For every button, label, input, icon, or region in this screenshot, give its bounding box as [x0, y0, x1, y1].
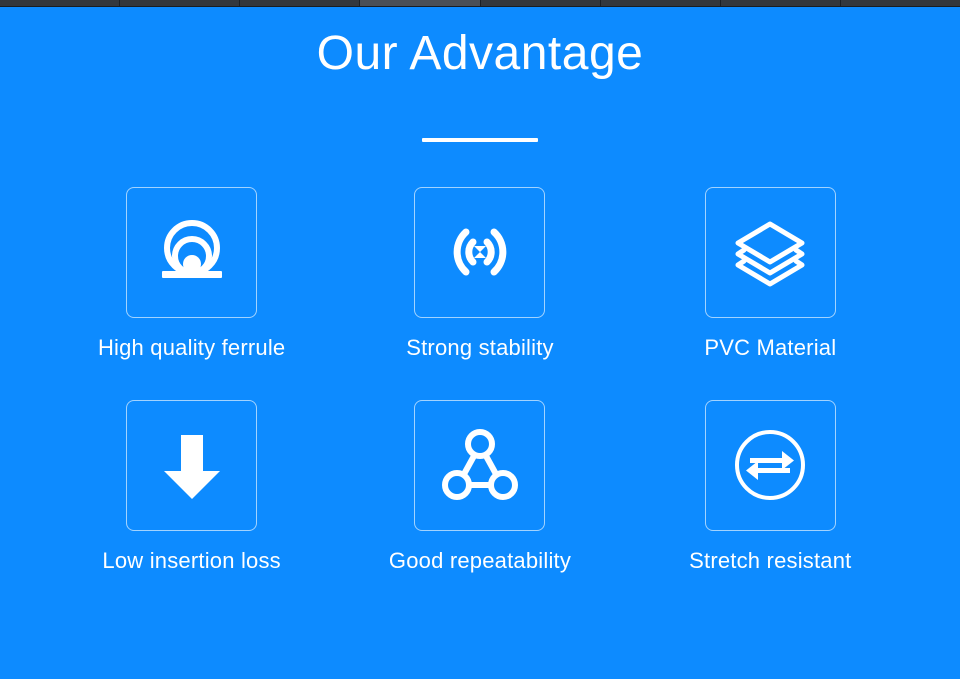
feature-label: High quality ferrule [98, 335, 285, 361]
feature-label: Low insertion loss [102, 548, 280, 574]
signal-waves-icon [442, 214, 518, 290]
feature-item-strong-stability[interactable]: Strong stability [337, 187, 622, 361]
feature-item-good-repeatability[interactable]: Good repeatability [337, 400, 622, 574]
icon-box [414, 187, 545, 318]
network-triangle-icon [442, 427, 518, 503]
feature-item-pvc-material[interactable]: PVC Material [633, 187, 908, 361]
feature-label: PVC Material [704, 335, 836, 361]
ferrule-rings-icon [154, 214, 230, 290]
page-title: Our Advantage [0, 7, 960, 81]
feature-item-stretch-resistant[interactable]: Stretch resistant [633, 400, 908, 574]
feature-label: Strong stability [406, 335, 554, 361]
icon-box [126, 187, 257, 318]
icon-box [126, 400, 257, 531]
stacked-layers-icon [732, 214, 808, 290]
feature-label: Stretch resistant [689, 548, 851, 574]
down-arrow-icon [154, 427, 230, 503]
feature-item-low-insertion-loss[interactable]: Low insertion loss [46, 400, 337, 574]
icon-box [705, 187, 836, 318]
icon-box [705, 400, 836, 531]
icon-box [414, 400, 545, 531]
page-root: Our Advantage High quality ferrule [0, 0, 960, 686]
feature-label: Good repeatability [389, 548, 571, 574]
exchange-arrows-circle-icon [732, 427, 808, 503]
feature-grid: High quality ferrule Strong s [52, 187, 908, 574]
feature-item-high-quality-ferrule[interactable]: High quality ferrule [46, 187, 337, 361]
advantage-banner: Our Advantage High quality ferrule [0, 7, 960, 679]
title-divider [422, 138, 538, 142]
